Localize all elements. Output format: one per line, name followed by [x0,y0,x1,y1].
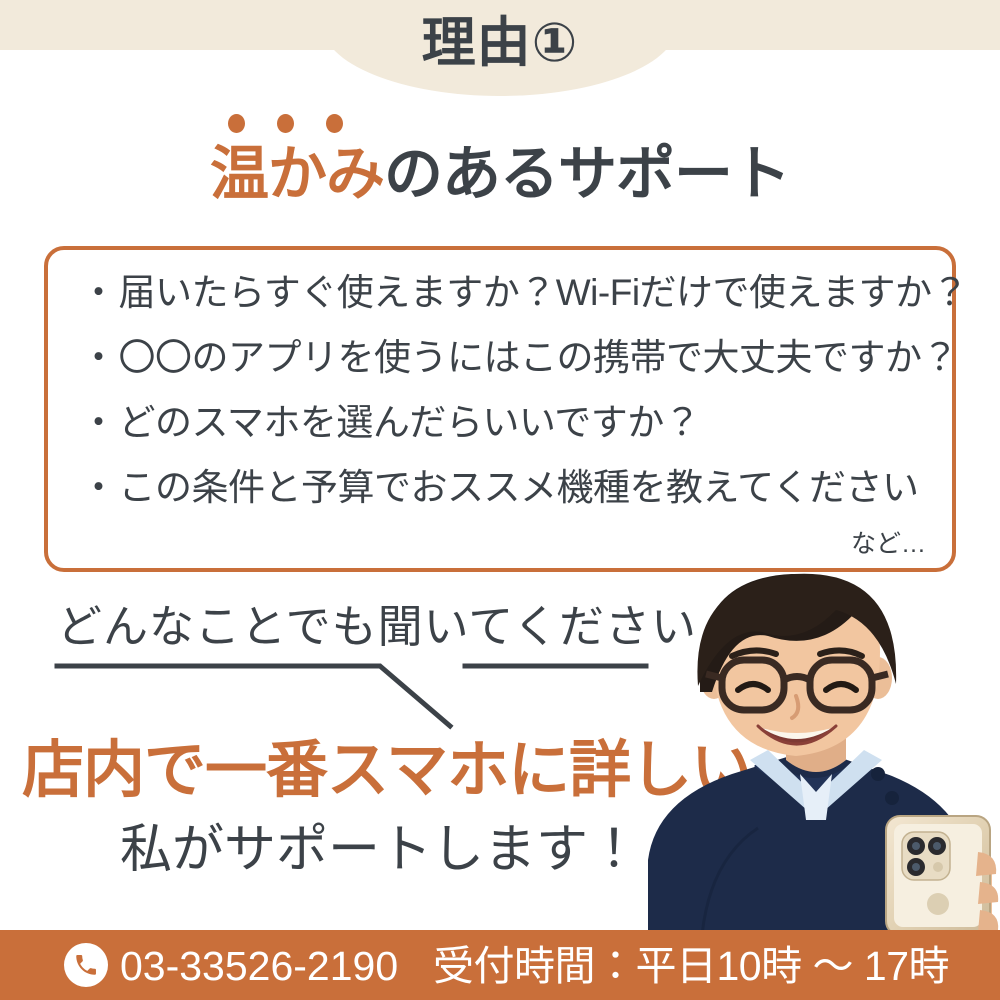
list-item: ・どのスマホを選んだらいいですか？ [80,404,934,469]
list-item: ・届いたらすぐ使えますか？Wi-Fiだけで使えますか？ [80,274,934,339]
staff-photo [640,560,1000,935]
emphasis-dot [228,114,245,133]
claim-subline: 私がサポートします！ [120,824,640,876]
list-item: ・〇〇のアプリを使うにはこの携帯で大丈夫ですか？ [80,339,934,404]
bullet-marker-icon: ・ [80,469,117,506]
bullet-marker-icon: ・ [80,274,117,311]
emphasis-dot [326,114,343,133]
emphasis-dots [228,114,343,133]
question-list: ・届いたらすぐ使えますか？Wi-Fiだけで使えますか？ ・〇〇のアプリを使うには… [80,274,934,506]
page-title-highlight: 温かみ [210,141,384,207]
list-item-label: 届いたらすぐ使えますか？Wi-Fiだけで使えますか？ [119,272,969,313]
phone-icon[interactable] [64,943,108,987]
speech-bubble-underline [50,660,670,730]
list-item-label: 〇〇のアプリを使うにはこの携帯で大丈夫ですか？ [119,337,959,378]
emphasis-dot [277,114,294,133]
bullet-marker-icon: ・ [80,404,117,441]
question-box: ・届いたらすぐ使えますか？Wi-Fiだけで使えますか？ ・〇〇のアプリを使うには… [44,246,956,572]
business-hours: 受付時間：平日10時 〜 17時 [433,944,949,988]
list-item-label: どのスマホを選んだらいいですか？ [119,402,701,443]
reason-badge-label: 理由① [0,16,1000,70]
page-title-rest: のあるサポート [384,141,790,207]
contact-footer: 03-33526-2190 受付時間：平日10時 〜 17時 [0,930,1000,1000]
promo-page: 理由① 温かみのあるサポート ・届いたらすぐ使えますか？Wi-Fiだけで使えます… [0,0,1000,1000]
page-title: 温かみのあるサポート [0,143,1000,207]
bullet-marker-icon: ・ [80,339,117,376]
phone-number[interactable]: 03-33526-2190 [120,944,398,988]
list-item-label: この条件と予算でおススメ機種を教えてください [119,467,919,508]
list-item: ・この条件と予算でおススメ機種を教えてください [80,469,934,506]
etcetera-note: など… [851,532,926,557]
